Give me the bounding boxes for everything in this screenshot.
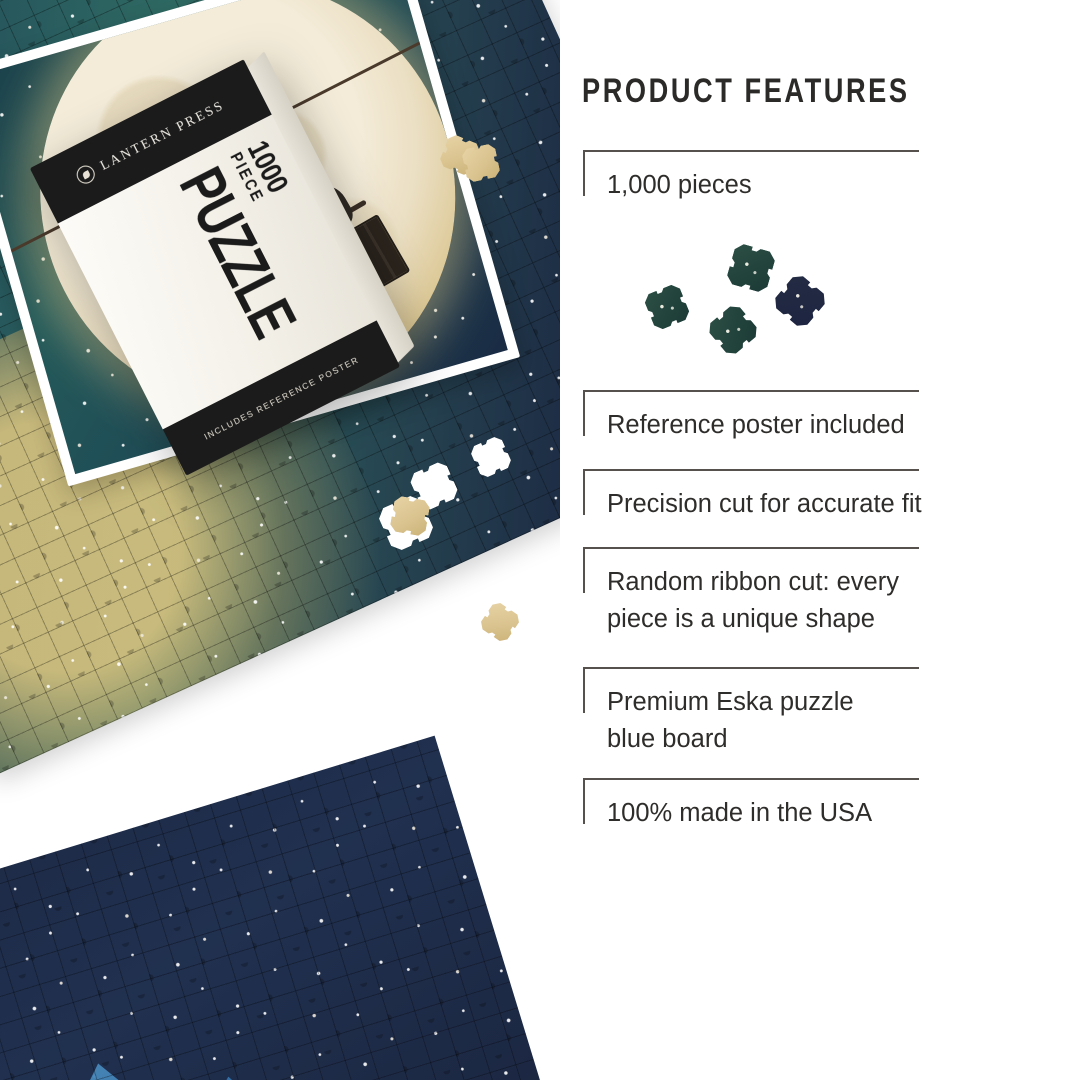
feature-rule — [583, 150, 919, 152]
feature-tick — [583, 390, 585, 436]
product-photo: LANTERN PRESS 1000PIECE PUZZLE INCLUDES … — [0, 0, 560, 1080]
feature-rule — [583, 547, 919, 549]
feature-rule — [583, 469, 919, 471]
feature-rule — [583, 667, 919, 669]
feature-label: 1,000 pieces — [607, 167, 927, 204]
product-features-panel: PRODUCT FEATURES 1,000 pieces Reference … — [560, 0, 1080, 1080]
feature-label: Precision cut for accurate fit — [607, 486, 927, 523]
feature-label: Reference poster included — [607, 407, 927, 444]
feature-label: Random ribbon cut: every piece is a uniq… — [607, 564, 927, 639]
feature-rule — [583, 778, 919, 780]
puzzle-piece-knobs — [0, 736, 557, 1080]
feature-tick — [583, 547, 585, 593]
feature-rule — [583, 390, 919, 392]
loose-piece-tan — [478, 600, 522, 644]
feature-tick — [583, 667, 585, 713]
feature-tick — [583, 150, 585, 196]
feature-label: Premium Eska puzzle blue board — [607, 684, 927, 759]
loose-piece-tan — [389, 495, 431, 537]
feature-label: 100% made in the USA — [607, 795, 927, 832]
assembled-puzzle-bottom — [0, 736, 557, 1080]
lantern-logo-icon — [74, 162, 98, 186]
loose-piece-tan — [461, 143, 501, 183]
feature-tick — [583, 778, 585, 824]
feature-tick — [583, 469, 585, 515]
page-title: PRODUCT FEATURES — [582, 72, 910, 111]
product-listing-image: LANTERN PRESS 1000PIECE PUZZLE INCLUDES … — [0, 0, 1080, 1080]
